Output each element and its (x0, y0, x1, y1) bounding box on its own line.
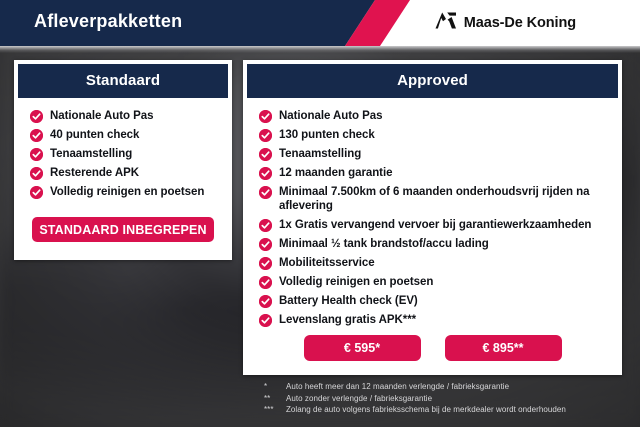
footnote-marker: ** (264, 393, 286, 405)
feature-label: Nationale Auto Pas (279, 109, 382, 123)
promo-slide: Afleverpakketten Maas-De Koning Standaar… (0, 0, 640, 427)
feature-label: Minimaal ½ tank brandstof/accu lading (279, 237, 489, 251)
brand-lockup: Maas-De Koning (435, 12, 576, 34)
footnote-marker: * (264, 381, 286, 393)
footnote-row: * Auto heeft meer dan 12 maanden verleng… (264, 381, 634, 393)
check-circle-icon (259, 167, 272, 180)
footnote-text: Auto zonder verlengde / fabrieksgarantie (286, 393, 432, 405)
check-circle-icon (259, 148, 272, 161)
price-button-595[interactable]: € 595* (304, 335, 421, 361)
check-circle-icon (259, 110, 272, 123)
feature-label: Resterende APK (50, 166, 139, 180)
check-circle-icon (259, 295, 272, 308)
list-item: 130 punten check (259, 128, 622, 142)
list-item: Battery Health check (EV) (259, 294, 622, 308)
package-title-approved: Approved (247, 64, 618, 98)
list-item: Volledig reinigen en poetsen (30, 185, 232, 199)
check-circle-icon (259, 129, 272, 142)
check-circle-icon (30, 186, 43, 199)
list-item: Tenaamstelling (259, 147, 622, 161)
check-circle-icon (259, 257, 272, 270)
package-card-standaard: Standaard Nationale Auto Pas 40 punten c… (14, 60, 232, 260)
list-item: Minimaal ½ tank brandstof/accu lading (259, 237, 622, 251)
feature-label: 1x Gratis vervangend vervoer bij garanti… (279, 218, 591, 232)
page-title: Afleverpakketten (34, 11, 182, 32)
check-circle-icon (259, 276, 272, 289)
list-item: 1x Gratis vervangend vervoer bij garanti… (259, 218, 622, 232)
check-circle-icon (259, 186, 272, 199)
list-item: Mobiliteitsservice (259, 256, 622, 270)
feature-label: Levenslang gratis APK*** (279, 313, 416, 327)
footnote-block: * Auto heeft meer dan 12 maanden verleng… (264, 381, 634, 416)
list-item: Levenslang gratis APK*** (259, 313, 622, 327)
check-circle-icon (30, 129, 43, 142)
footnote-row: *** Zolang de auto volgens fabrieksschem… (264, 404, 634, 416)
feature-label: Tenaamstelling (50, 147, 132, 161)
check-circle-icon (259, 238, 272, 251)
package-title-standaard: Standaard (18, 64, 228, 98)
feature-label: 12 maanden garantie (279, 166, 392, 180)
feature-label: Volledig reinigen en poetsen (279, 275, 433, 289)
feature-label: Battery Health check (EV) (279, 294, 418, 308)
feature-list-standaard: Nationale Auto Pas 40 punten check Tenaa… (14, 98, 232, 199)
brand-name: Maas-De Koning (464, 15, 576, 31)
feature-label: 40 punten check (50, 128, 139, 142)
feature-label: Tenaamstelling (279, 147, 361, 161)
list-item: Volledig reinigen en poetsen (259, 275, 622, 289)
feature-label: 130 punten check (279, 128, 375, 142)
footnote-text: Zolang de auto volgens fabrieksschema bi… (286, 404, 566, 416)
list-item: Nationale Auto Pas (30, 109, 232, 123)
feature-label: Nationale Auto Pas (50, 109, 153, 123)
feature-list-approved: Nationale Auto Pas 130 punten check Tena… (243, 98, 622, 327)
check-circle-icon (30, 148, 43, 161)
list-item: Minimaal 7.500km of 6 maanden onderhouds… (259, 185, 622, 213)
standaard-inbegrepen-button[interactable]: STANDAARD INBEGREPEN (32, 217, 214, 242)
check-circle-icon (30, 110, 43, 123)
check-circle-icon (259, 314, 272, 327)
footnote-row: ** Auto zonder verlengde / fabrieksgaran… (264, 393, 634, 405)
maas-de-koning-logo-icon (435, 12, 457, 34)
feature-label: Volledig reinigen en poetsen (50, 185, 204, 199)
package-card-approved: Approved Nationale Auto Pas 130 punten c… (243, 60, 622, 375)
list-item: 40 punten check (30, 128, 232, 142)
list-item: Resterende APK (30, 166, 232, 180)
footnote-text: Auto heeft meer dan 12 maanden verlengde… (286, 381, 509, 393)
page-header: Afleverpakketten Maas-De Koning (0, 0, 640, 46)
price-button-895[interactable]: € 895** (445, 335, 562, 361)
list-item: Nationale Auto Pas (259, 109, 622, 123)
header-shadow (0, 46, 640, 53)
check-circle-icon (30, 167, 43, 180)
feature-label: Minimaal 7.500km of 6 maanden onderhouds… (279, 185, 622, 213)
feature-label: Mobiliteitsservice (279, 256, 375, 270)
price-button-row: € 595* € 895** (243, 335, 622, 361)
list-item: Tenaamstelling (30, 147, 232, 161)
footnote-marker: *** (264, 404, 286, 416)
list-item: 12 maanden garantie (259, 166, 622, 180)
check-circle-icon (259, 219, 272, 232)
